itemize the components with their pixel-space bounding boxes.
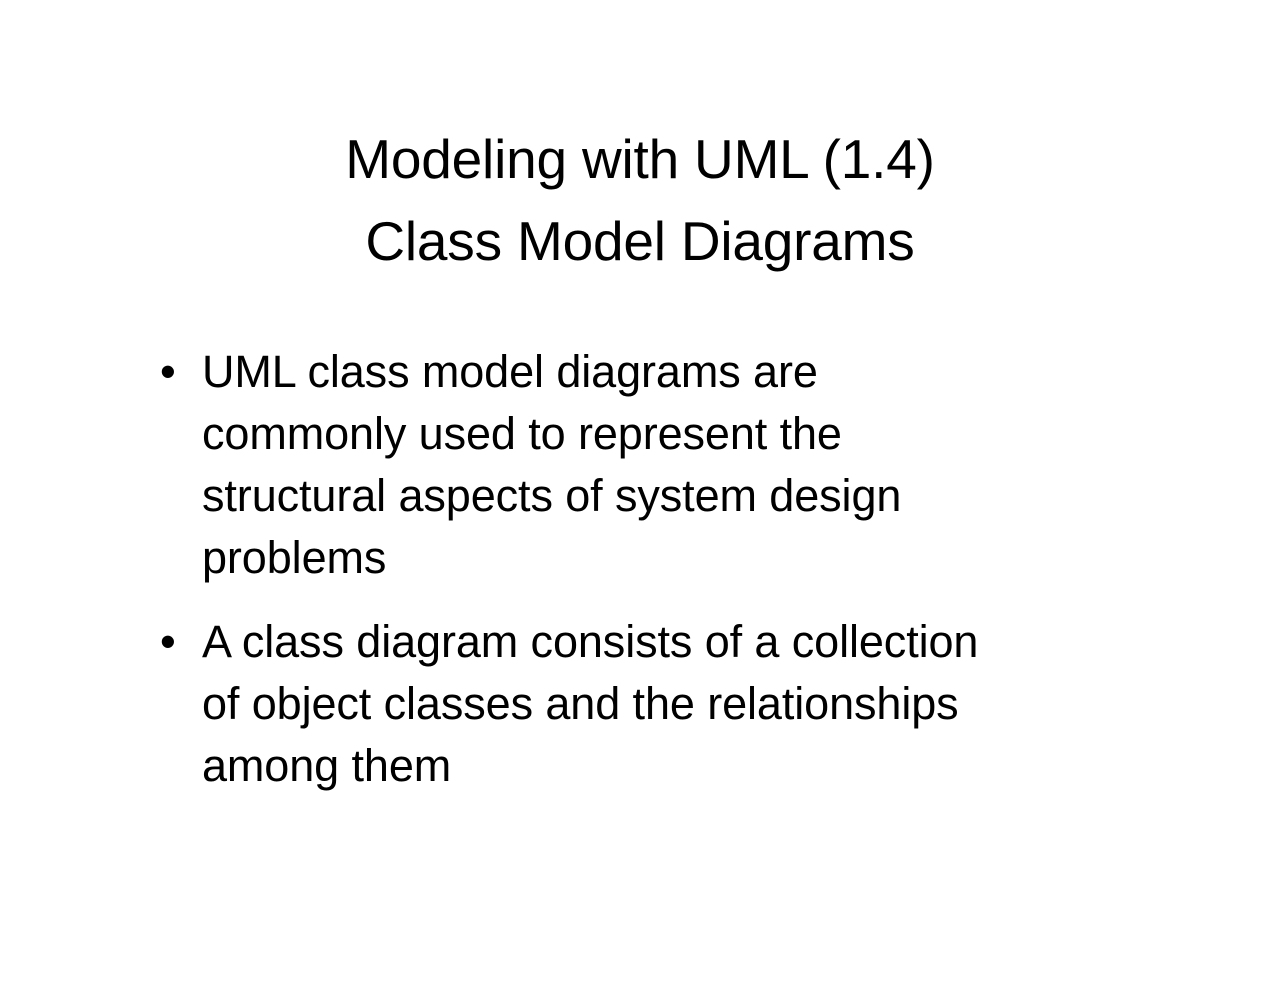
bullet-text: A class diagram consists of a collection… — [202, 611, 1135, 797]
slide-title-line-2: Class Model Diagrams — [90, 200, 1190, 282]
bullet-list-item: • A class diagram consists of a collecti… — [150, 611, 1135, 797]
bullet-text-line: commonly used to represent the — [202, 403, 1135, 465]
bullet-text-line: of object classes and the relationships — [202, 673, 1135, 735]
bullet-text-line: A class diagram consists of a collection — [202, 611, 1135, 673]
bullet-text-line: problems — [202, 527, 1135, 589]
bullet-marker-icon: • — [160, 611, 190, 673]
bullet-text-line: among them — [202, 735, 1135, 797]
slide-title-line-1: Modeling with UML (1.4) — [90, 118, 1190, 200]
bullet-text: UML class model diagrams are commonly us… — [202, 341, 1135, 589]
bullet-list-item: • UML class model diagrams are commonly … — [150, 341, 1135, 589]
bullet-marker-icon: • — [160, 341, 190, 403]
presentation-slide: Modeling with UML (1.4) Class Model Diag… — [0, 0, 1280, 989]
slide-title: Modeling with UML (1.4) Class Model Diag… — [90, 118, 1190, 282]
bullet-text-line: structural aspects of system design — [202, 465, 1135, 527]
bullet-text-line: UML class model diagrams are — [202, 341, 1135, 403]
slide-body: • UML class model diagrams are commonly … — [150, 341, 1135, 797]
